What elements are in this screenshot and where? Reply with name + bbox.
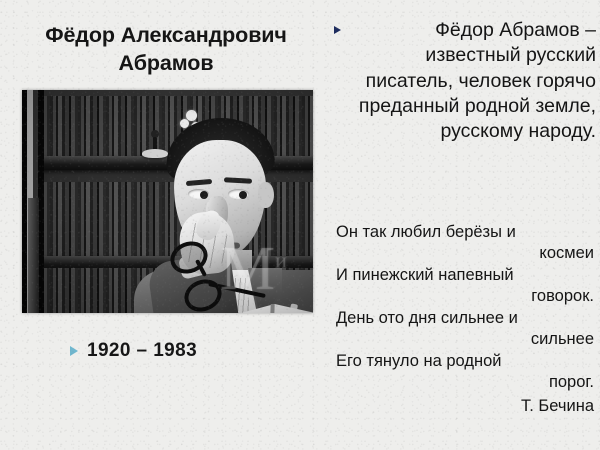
portrait-photo: Mи <box>22 90 313 313</box>
poem-line: И пинежский напевный <box>336 265 594 286</box>
poem-line: космеи <box>336 243 594 264</box>
intro-text: Фёдор Абрамов – известный русский писате… <box>347 18 596 145</box>
presentation-slide: Фёдор Александрович Абрамов <box>0 0 600 450</box>
intro-paragraph: Фёдор Абрамов – известный русский писате… <box>334 18 596 145</box>
left-column: Фёдор Александрович Абрамов <box>0 0 330 450</box>
eyeglasses <box>168 236 254 313</box>
ear <box>258 182 274 208</box>
page-title: Фёдор Александрович Абрамов <box>8 22 324 78</box>
poem-line: Его тянуло на родной <box>336 351 594 372</box>
eyeglass-lens-lower <box>180 274 227 313</box>
cabinet-post <box>28 198 39 313</box>
pupil-left <box>200 191 208 199</box>
triangle-bullet-icon <box>334 26 341 34</box>
poem-line: День ото дня сильнее и <box>336 308 594 329</box>
life-dates: 1920 – 1983 <box>70 340 197 362</box>
poem-line: Он так любил берёзы и <box>336 222 594 243</box>
book-spine <box>269 304 274 313</box>
triangle-bullet-icon <box>70 346 78 356</box>
poem-author: Т. Бечина <box>336 396 594 417</box>
poem-line: говорок. <box>336 286 594 307</box>
portrait-photo-content: Mи <box>22 90 313 313</box>
poem-block: Он так любил берёзы и космеи И пинежский… <box>336 222 594 417</box>
right-column: Фёдор Абрамов – известный русский писате… <box>330 0 600 450</box>
pupil-right <box>239 191 247 199</box>
poem-line: сильнее <box>336 329 594 350</box>
portrait-figure <box>140 118 313 313</box>
life-dates-label: 1920 – 1983 <box>87 340 197 362</box>
poem-line: порог. <box>336 372 594 393</box>
